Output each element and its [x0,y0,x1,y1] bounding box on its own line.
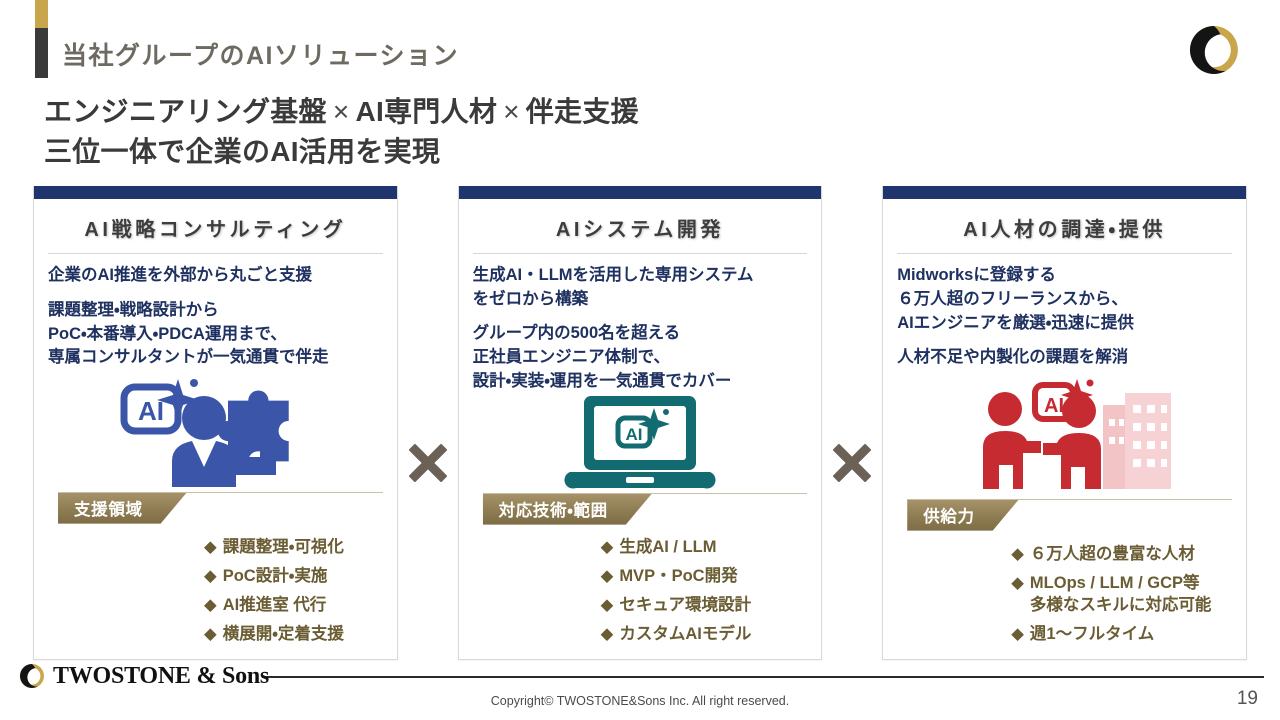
footer-copyright: Copyright© TWOSTONE&Sons Inc. All right … [0,694,1280,708]
card-title: AI人材の調達・提供 [883,199,1246,253]
svg-text:AI: AI [1044,395,1064,417]
card-title-divider [473,253,808,254]
card-tag-banner: 対応技術・範囲 [459,493,822,526]
list-item: ◆横展開・定着支援 [204,623,383,645]
diamond-bullet-icon: ◆ [204,594,217,616]
subtitle-line-2: 三位一体で企業のAI活用を実現 [44,132,639,172]
ai-laptop-illustration: AI [560,392,720,494]
diamond-bullet-icon: ◆ [204,565,217,587]
card-ai-talent-sourcing[interactable]: AI人材の調達・提供 Midworksに登録する ６万人超のフリーランスから、 … [882,186,1247,660]
card-topbar [459,186,822,199]
card-tag-label: 対応技術・範囲 [483,494,652,525]
page-kicker: 当社グループのAIソリューション [62,36,459,72]
list-item: ◆AI推進室 代行 [204,594,383,616]
diamond-bullet-icon: ◆ [601,536,614,558]
list-item-label: 生成AI / LLM [619,536,807,558]
card-title: AIシステム開発 [459,199,822,253]
card-tag-label: 支援領域 [58,493,187,524]
card-illustration: AI [883,370,1246,499]
list-item: ◆MVP・PoC開発 [601,565,808,587]
list-item-label: 横展開・定着支援 [223,623,383,645]
list-item: ◆カスタムAIモデル [601,623,808,645]
multiply-icon [830,441,874,485]
page-number: 19 [1237,688,1258,710]
card-bullet-list: ◆生成AI / LLM ◆MVP・PoC開発 ◆セキュア環境設計 ◆カスタムAI… [459,528,822,659]
ai-consultant-puzzle-illustration: AI [108,375,323,487]
page-subtitle: エンジニアリング基盤×AI専門人材×伴走支援 三位一体で企業のAI活用を実現 [44,92,639,172]
list-item-label: セキュア環境設計 [619,594,807,616]
card-body-paragraph: 企業のAI推進を外部から丸ごと支援 [48,264,383,288]
diamond-bullet-icon: ◆ [1011,572,1024,616]
card-bullet-list: ◆６万人超の豊富な人材 ◆MLOps / LLM / GCP等 多様なスキルに対… [883,535,1246,659]
card-tag-rule [58,492,383,493]
list-item-label: AI推進室 代行 [223,594,383,616]
card-tag-label: 供給力 [907,500,1018,531]
subtitle-part-1: エンジニアリング基盤 [44,96,327,127]
card-topbar [883,186,1246,199]
title-accent-gold-segment [35,0,48,28]
card-tag-banner: 供給力 [883,499,1246,533]
card-body-paragraph: 人材不足や内製化の課題を解消 [897,346,1232,370]
card-tag-banner: 支援領域 [34,492,397,526]
ai-talent-handshake-illustration: AI [957,379,1172,489]
list-item: ◆生成AI / LLM [601,536,808,558]
diamond-bullet-icon: ◆ [1011,543,1024,565]
diamond-bullet-icon: ◆ [204,536,217,558]
diamond-bullet-icon: ◆ [204,623,217,645]
subtitle-part-2: AI専門人材 [355,96,497,127]
list-item: ◆課題整理・可視化 [204,536,383,558]
card-body: 生成AI・LLMを活用した専用システム をゼロから構築 グループ内の500名を超… [459,264,822,394]
multiply-icon [406,441,450,485]
card-title-divider [897,253,1232,254]
list-item-label: カスタムAIモデル [619,623,807,645]
card-body-paragraph: グループ内の500名を超える 正社員エンジニア体制で、 設計・実装・運用を一気通… [473,322,808,393]
card-body-paragraph: 課題整理・戦略設計から PoC・本番導入・PDCA運用まで、 専属コンサルタント… [48,299,383,370]
list-item-label: 課題整理・可視化 [223,536,383,558]
list-item-label: ６万人超の豊富な人材 [1030,543,1232,565]
diamond-bullet-icon: ◆ [601,623,614,645]
twostone-circle-logo-icon [1186,22,1242,78]
card-body-paragraph: Midworksに登録する ６万人超のフリーランスから、 AIエンジニアを厳選・… [897,264,1232,335]
diamond-bullet-icon: ◆ [601,594,614,616]
list-item: ◆６万人超の豊富な人材 [1011,543,1232,565]
card-topbar [34,186,397,199]
list-item-label: MLOps / LLM / GCP等 多様なスキルに対応可能 [1030,572,1232,616]
footer-divider [262,676,1264,678]
list-item: ◆セキュア環境設計 [601,594,808,616]
footer-brand-text: TWOSTONE & Sons [53,663,269,690]
card-tag-rule [907,499,1232,500]
separator-multiply-1 [398,186,458,660]
title-accent-bar [35,0,48,78]
subtitle-multiply-2: × [497,96,526,127]
twostone-circle-logo-icon [18,662,46,690]
card-ai-strategy-consulting[interactable]: AI戦略コンサルティング 企業のAI推進を外部から丸ごと支援 課題整理・戦略設計… [33,186,398,660]
card-body: 企業のAI推進を外部から丸ごと支援 課題整理・戦略設計から PoC・本番導入・P… [34,264,397,370]
list-item-label: 週1〜フルタイム [1030,623,1232,645]
card-bullet-list: ◆課題整理・可視化 ◆PoC設計・実施 ◆AI推進室 代行 ◆横展開・定着支援 [34,528,397,659]
card-title: AI戦略コンサルティング [34,199,397,253]
card-illustration: AI [459,394,822,493]
solution-cards-row: AI戦略コンサルティング 企業のAI推進を外部から丸ごと支援 課題整理・戦略設計… [33,186,1247,660]
list-item-label: PoC設計・実施 [223,565,383,587]
list-item: ◆週1〜フルタイム [1011,623,1232,645]
card-tag-rule [483,493,808,494]
diamond-bullet-icon: ◆ [1011,623,1024,645]
card-body: Midworksに登録する ６万人超のフリーランスから、 AIエンジニアを厳選・… [883,264,1246,370]
separator-multiply-2 [822,186,882,660]
list-item: ◆PoC設計・実施 [204,565,383,587]
list-item-label: MVP・PoC開発 [619,565,807,587]
slide-footer: TWOSTONE & Sons Copyright© TWOSTONE&Sons… [0,662,1280,720]
subtitle-multiply-1: × [327,96,356,127]
diamond-bullet-icon: ◆ [601,565,614,587]
card-body-paragraph: 生成AI・LLMを活用した専用システム をゼロから構築 [473,264,808,312]
svg-text:AI: AI [626,425,643,444]
subtitle-line-1: エンジニアリング基盤×AI専門人材×伴走支援 [44,92,639,132]
list-item: ◆MLOps / LLM / GCP等 多様なスキルに対応可能 [1011,572,1232,616]
card-illustration: AI [34,370,397,492]
subtitle-part-3: 伴走支援 [526,96,639,127]
card-ai-system-development[interactable]: AIシステム開発 生成AI・LLMを活用した専用システム をゼロから構築 グルー… [458,186,823,660]
card-title-divider [48,253,383,254]
footer-brand: TWOSTONE & Sons [18,662,269,690]
